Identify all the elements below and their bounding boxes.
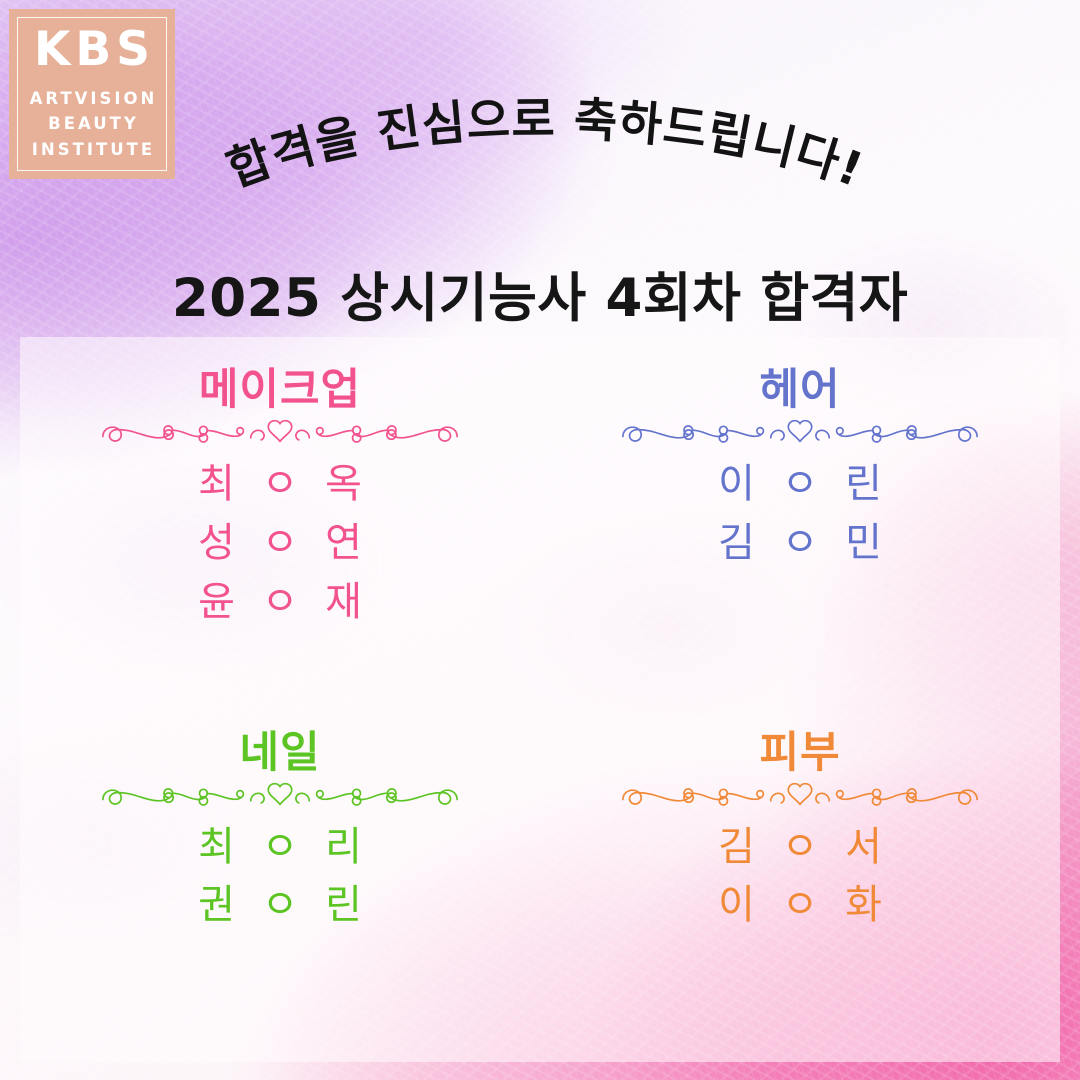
heart-flourish-divider: [624, 412, 976, 446]
name-list-nail: 최 ㅇ 리 권 ㅇ 린: [191, 819, 369, 935]
name-list-skin: 김 ㅇ 서 이 ㅇ 화: [711, 819, 889, 935]
list-item: 김 ㅇ 서: [711, 819, 889, 876]
poster-canvas: KBS ARTVISION BEAUTY INSTITUTE 합격을 진심으로 …: [0, 0, 1080, 1080]
name-list-hair: 이 ㅇ 린 김 ㅇ 민: [711, 456, 889, 572]
logo-line-artvision: ARTVISION: [27, 86, 158, 112]
list-item: 이 ㅇ 화: [711, 877, 889, 934]
category-title-skin: 피부: [759, 732, 840, 775]
heart-flourish-divider: [104, 775, 456, 809]
arched-congratulation-headline: 합격을 진심으로 축하드립니다!: [140, 92, 950, 257]
list-item: 성 ㅇ 연: [191, 515, 369, 572]
category-grid: 메이크업 최 ㅇ 옥 성 ㅇ 연 윤 ㅇ 재 헤어: [20, 337, 1060, 1062]
results-panel: 메이크업 최 ㅇ 옥 성 ㅇ 연 윤 ㅇ 재 헤어: [20, 337, 1060, 1062]
category-makeup: 메이크업 최 ㅇ 옥 성 ㅇ 연 윤 ㅇ 재: [20, 337, 540, 700]
category-hair: 헤어 이 ㅇ 린 김 ㅇ 민: [540, 337, 1060, 700]
list-item: 김 ㅇ 민: [711, 515, 889, 572]
list-item: 최 ㅇ 옥: [191, 456, 369, 513]
list-item: 최 ㅇ 리: [191, 819, 369, 876]
category-nail: 네일 최 ㅇ 리 권 ㅇ 린: [20, 700, 540, 1063]
list-item: 권 ㅇ 린: [191, 877, 369, 934]
arched-headline-text: 합격을 진심으로 축하드립니다!: [220, 92, 871, 198]
list-item: 이 ㅇ 린: [711, 456, 889, 513]
category-skin: 피부 김 ㅇ 서 이 ㅇ 화: [540, 700, 1060, 1063]
category-title-makeup: 메이크업: [199, 369, 361, 412]
category-title-nail: 네일: [239, 732, 320, 775]
page-title: 2025 상시기능사 4회차 합격자: [0, 256, 1080, 332]
heart-flourish-divider: [624, 775, 976, 809]
heart-flourish-divider: [104, 412, 456, 446]
logo-line-beauty: BEAUTY: [45, 111, 139, 137]
logo-line-institute: INSTITUTE: [29, 137, 155, 163]
list-item: 윤 ㅇ 재: [191, 574, 369, 631]
name-list-makeup: 최 ㅇ 옥 성 ㅇ 연 윤 ㅇ 재: [191, 456, 369, 630]
category-title-hair: 헤어: [759, 369, 840, 412]
logo-brand-text: KBS: [29, 26, 155, 73]
